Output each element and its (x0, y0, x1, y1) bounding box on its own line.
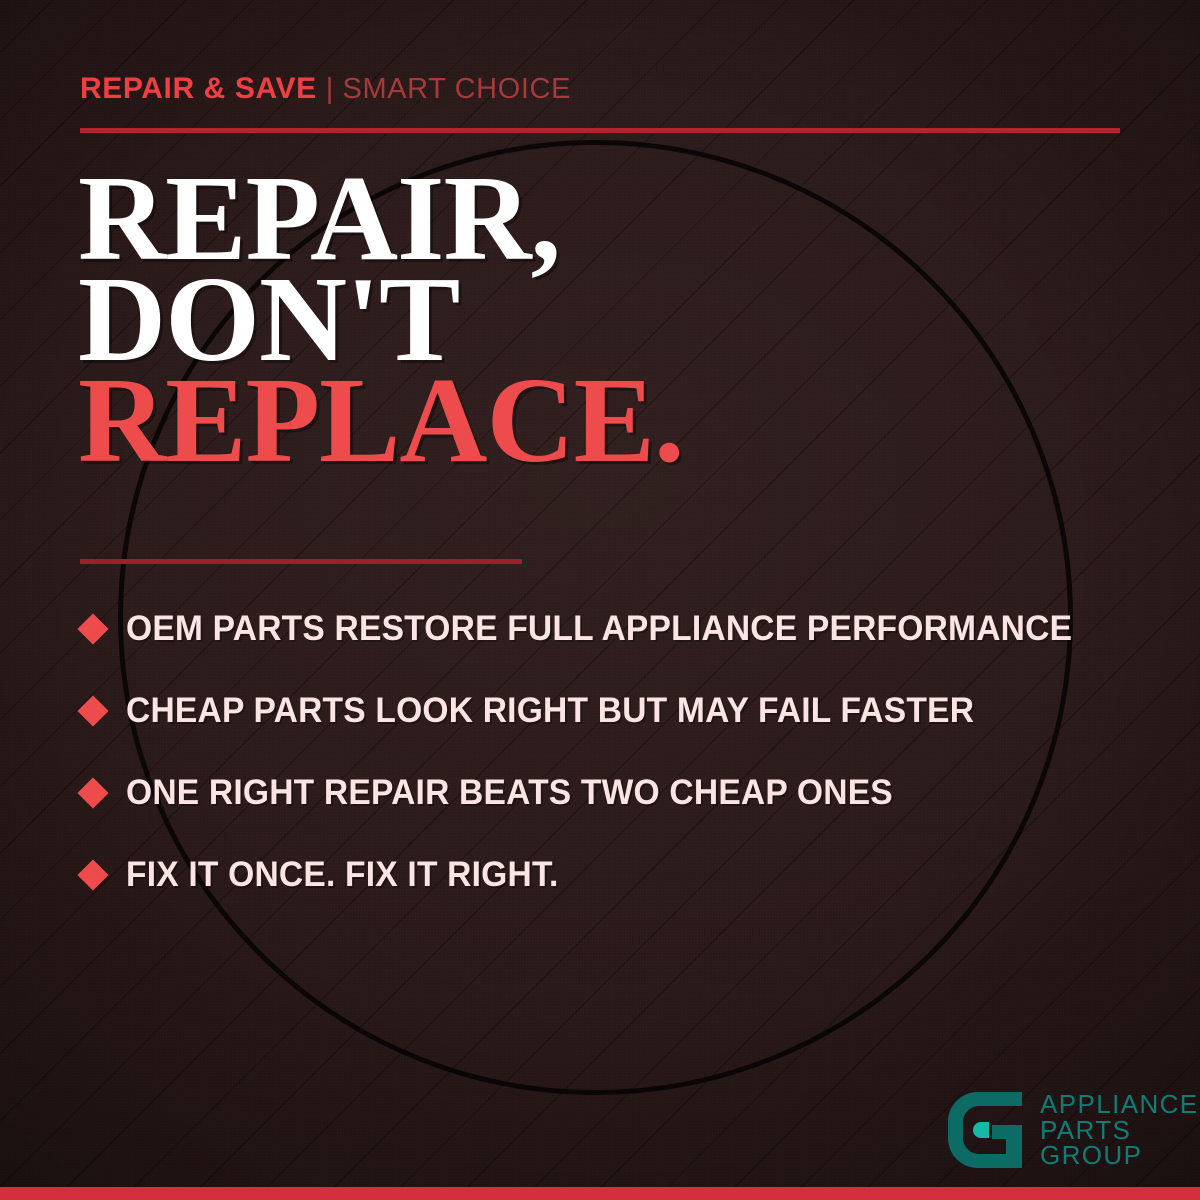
g-monogram-icon (948, 1092, 1026, 1168)
diamond-bullet-icon (77, 777, 108, 808)
list-item-label: OEM PARTS RESTORE FULL APPLIANCE PERFORM… (126, 609, 1072, 649)
headline-divider-rule (80, 559, 522, 564)
kicker-sub-label: | SMART CHOICE (326, 73, 571, 105)
list-item-label: FIX IT ONCE. FIX IT RIGHT. (126, 855, 558, 895)
header-divider-rule (80, 128, 1120, 133)
list-item: FIX IT ONCE. FIX IT RIGHT. (80, 834, 1150, 916)
brand-logo: APPLIANCE PARTS GROUP (948, 1092, 1199, 1169)
list-item-label: ONE RIGHT REPAIR BEATS TWO CHEAP ONES (126, 773, 893, 813)
headline-line-3: REPLACE. (78, 370, 683, 471)
diamond-bullet-icon (77, 613, 108, 644)
brand-logo-line-3: GROUP (1040, 1143, 1199, 1169)
kicker-main-label: REPAIR & SAVE (80, 72, 317, 105)
headline: REPAIR, DON'T REPLACE. (78, 168, 683, 471)
list-item: CHEAP PARTS LOOK RIGHT BUT MAY FAIL FAST… (80, 670, 1150, 752)
brand-logo-wordmark: APPLIANCE PARTS GROUP (1040, 1092, 1199, 1169)
poster-content: REPAIR & SAVE| SMART CHOICE REPAIR, DON'… (0, 0, 1200, 1200)
footer-accent-bar (0, 1187, 1200, 1200)
poster-canvas: REPAIR & SAVE| SMART CHOICE REPAIR, DON'… (0, 0, 1200, 1200)
diamond-bullet-icon (77, 859, 108, 890)
list-item-label: CHEAP PARTS LOOK RIGHT BUT MAY FAIL FAST… (126, 691, 974, 731)
brand-logo-line-1: APPLIANCE (1040, 1092, 1199, 1118)
kicker: REPAIR & SAVE| SMART CHOICE (80, 74, 571, 104)
list-item: ONE RIGHT REPAIR BEATS TWO CHEAP ONES (80, 752, 1150, 834)
list-item: OEM PARTS RESTORE FULL APPLIANCE PERFORM… (80, 588, 1150, 670)
diamond-bullet-icon (77, 695, 108, 726)
benefits-list: OEM PARTS RESTORE FULL APPLIANCE PERFORM… (80, 588, 1150, 916)
